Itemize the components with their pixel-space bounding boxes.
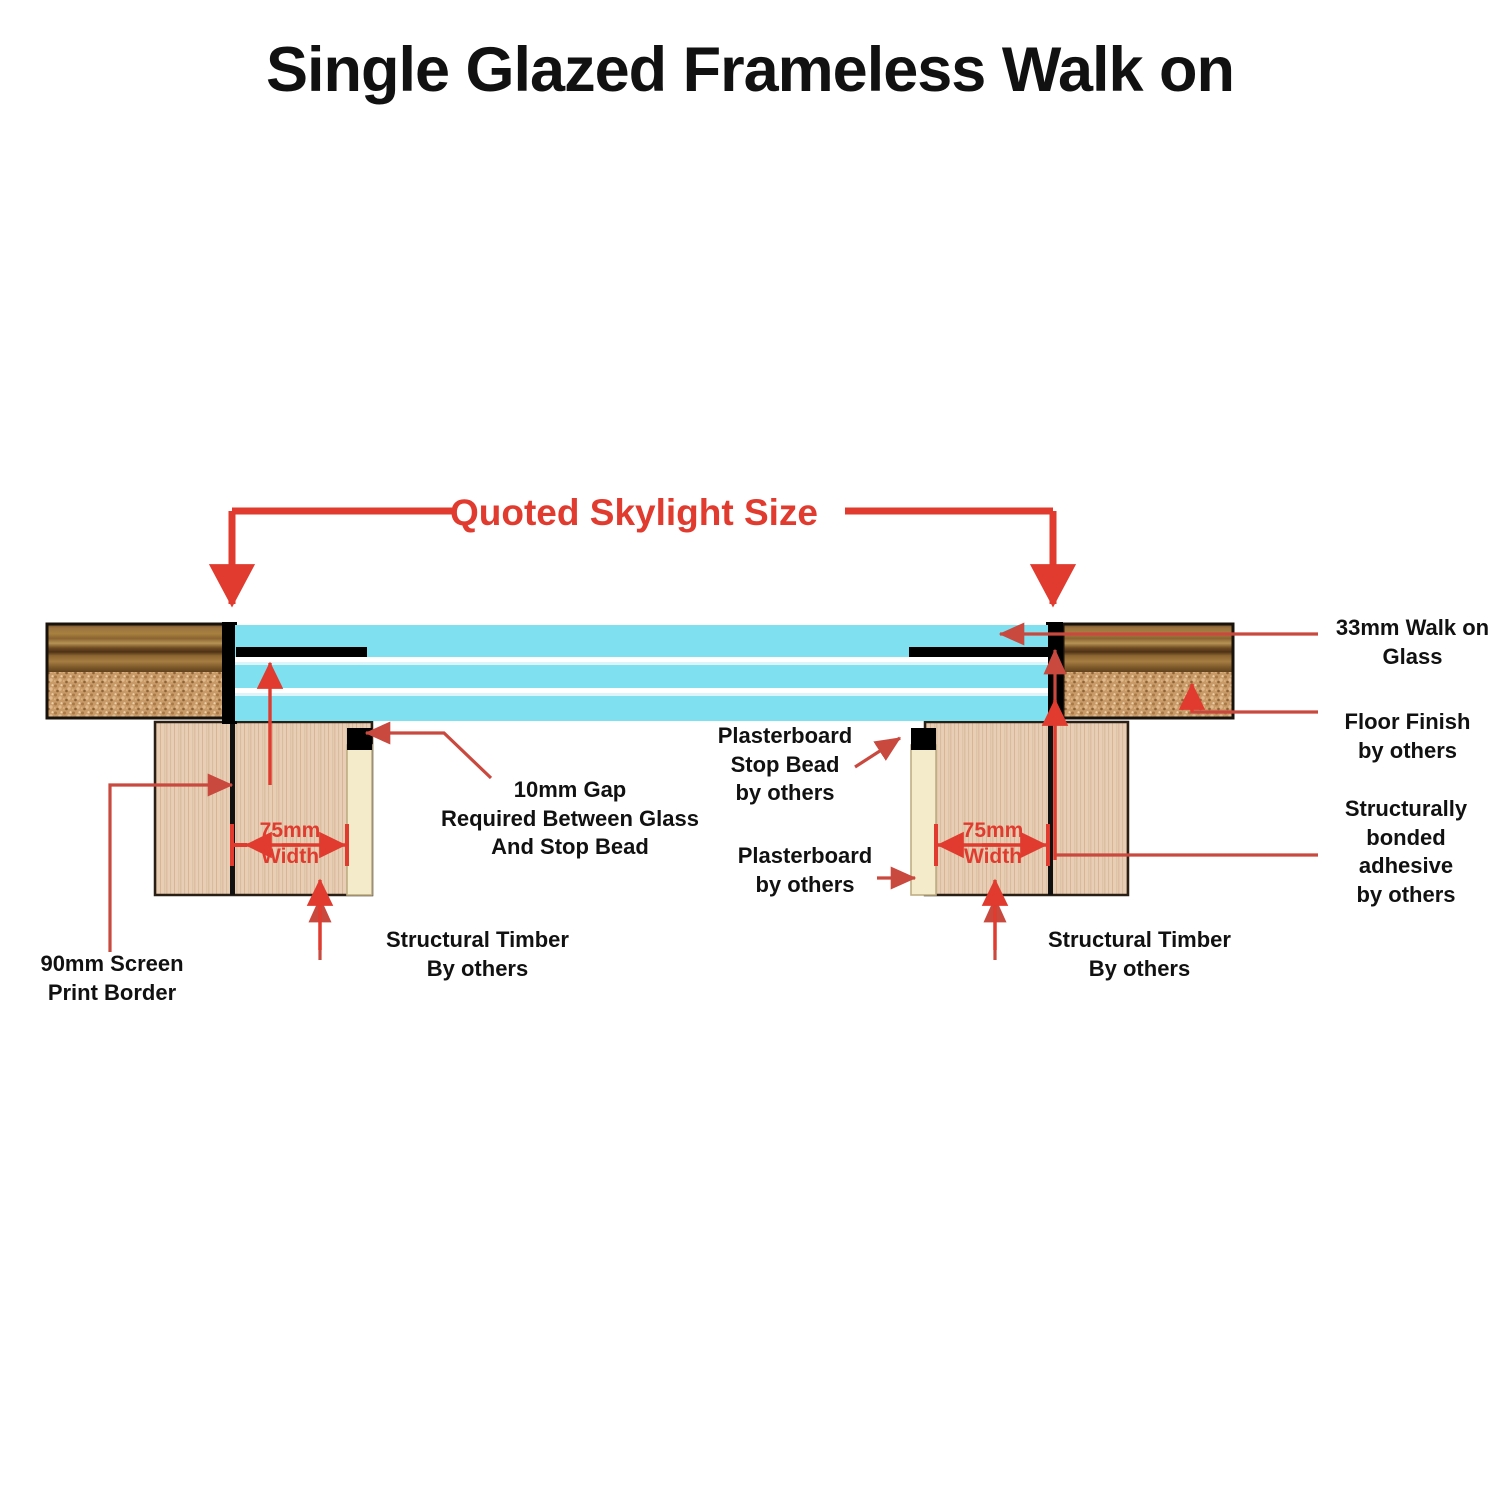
callout-screen-print-border: 90mm Screen Print Border <box>22 950 202 1007</box>
plasterboard-right <box>911 728 936 895</box>
bonded-adhesive-left <box>222 622 237 724</box>
callout-plasterboard: Plasterboard by others <box>730 842 880 899</box>
diagram-canvas: Single Glazed Frameless Walk on <box>0 0 1500 1500</box>
floor-buildup-right <box>1063 624 1233 718</box>
callout-bonded-adhesive: Structurally bonded adhesive by others <box>1316 795 1496 909</box>
callout-floor-finish: Floor Finish by others <box>1320 708 1495 765</box>
callout-10mm-gap: 10mm Gap Required Between Glass And Stop… <box>420 776 720 862</box>
quoted-skylight-size-label: Quoted Skylight Size <box>450 492 818 534</box>
leader-gap-stop-bead <box>366 733 491 778</box>
callout-33mm-walk-on-glass: 33mm Walk on Glass <box>1330 614 1495 671</box>
floor-buildup-left <box>47 624 233 718</box>
callout-structural-timber-right: Structural Timber By others <box>1032 926 1247 983</box>
dimension-label-right-75mm: 75mm Width <box>938 818 1048 869</box>
dimension-label-left-75mm: 75mm Width <box>235 818 345 869</box>
callout-plasterboard-stop-bead: Plasterboard Stop Bead by others <box>700 722 870 808</box>
plasterboard-left <box>347 728 372 895</box>
walk-on-glass <box>235 625 1048 721</box>
callout-structural-timber-left: Structural Timber By others <box>370 926 585 983</box>
